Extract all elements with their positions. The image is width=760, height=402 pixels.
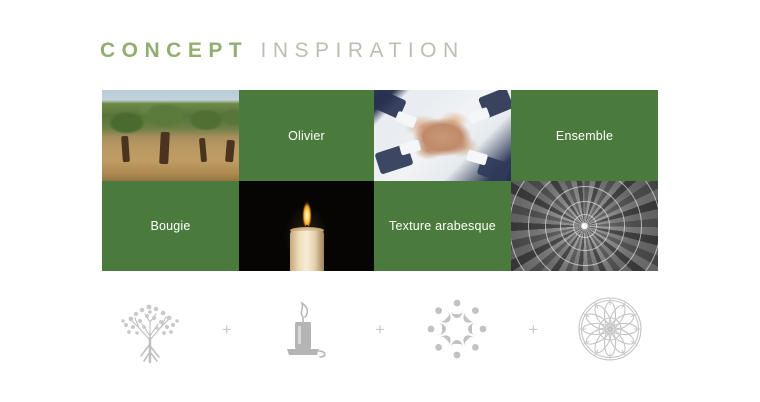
page-title: CONCEPT INSPIRATION [100,38,465,64]
moodboard-cell-olive-grove-photo [102,90,239,181]
icon-separator-plus: + [518,288,548,370]
page-title-secondary: INSPIRATION [261,39,465,62]
plus-separator-label: + [375,321,385,338]
olive-trunk-shape [121,136,130,162]
arabesque-rosette-icon [562,288,658,370]
concept-icon-row: + + [102,288,658,370]
dome-ring-shape [511,181,658,271]
moodboard-label-texture-arabesque: Texture arabesque [374,181,511,271]
moodboard-label-olivier: Olivier [239,90,374,181]
olive-trunk-shape [159,132,170,164]
moodboard-cell-bougie-tile: Bougie [102,181,239,271]
moodboard-cell-texture-arabesque-tile: Texture arabesque [374,181,511,271]
icon-separator-plus: + [212,288,242,370]
olive-trunk-shape [225,140,235,163]
moodboard-cell-arabesque-dome-photo [511,181,658,271]
moodboard-cell-olivier-tile: Olivier [239,90,374,181]
plus-separator-label: + [222,321,232,338]
shirt-cuff-shape [466,149,488,165]
moodboard-label-bougie: Bougie [102,181,239,271]
moodboard-grid: Olivier Ensemble Bougie Texture arabesqu… [102,90,658,271]
shirt-cuff-shape [395,111,418,129]
page-title-primary: CONCEPT [100,39,248,62]
candle-icon [255,288,351,370]
icon-separator-plus: + [365,288,395,370]
moodboard-cell-candle-photo [239,181,374,271]
people-circle-icon [409,288,505,370]
candle-flame-shape [301,197,312,227]
moodboard-cell-hands-together-photo [374,90,511,181]
plus-separator-label: + [528,321,538,338]
moodboard-cell-ensemble-tile: Ensemble [511,90,658,181]
shirt-cuff-shape [399,139,421,155]
candle-body-shape [290,231,324,271]
olive-trunk-shape [199,138,207,162]
shirt-cuff-shape [468,107,491,124]
olive-tree-icon [102,288,198,370]
moodboard-label-ensemble: Ensemble [511,90,658,181]
